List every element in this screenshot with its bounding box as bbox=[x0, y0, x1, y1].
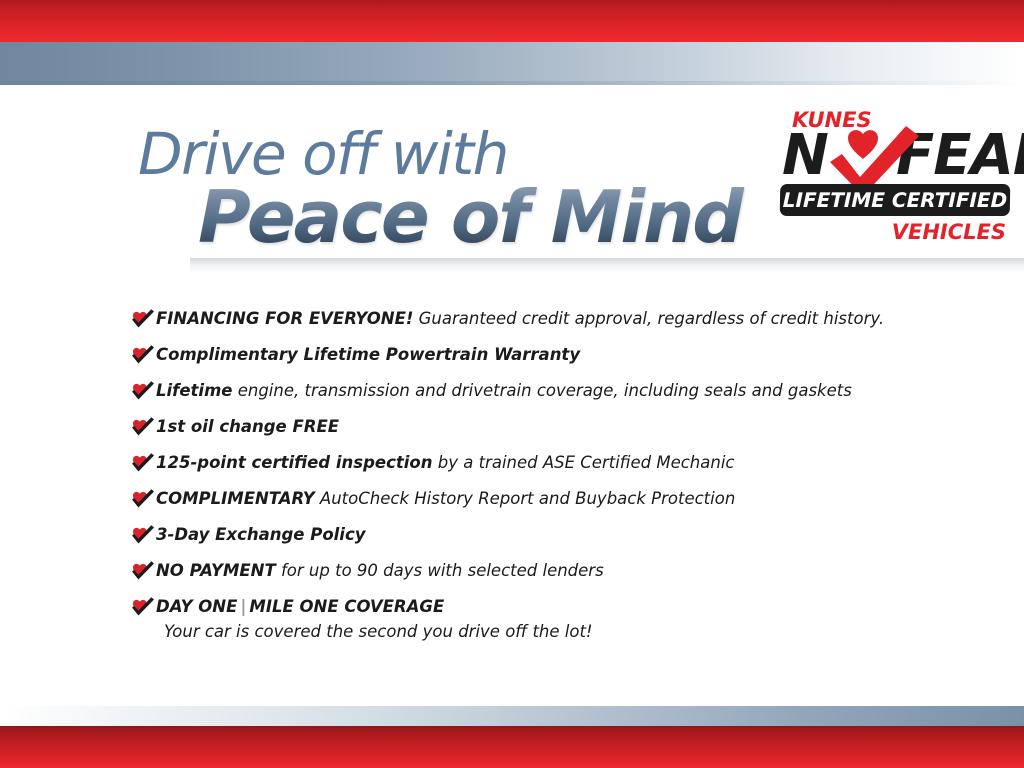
list-item-rest: for up to 90 days with selected lenders bbox=[276, 561, 604, 580]
list-item-text: 3-Day Exchange Policy bbox=[156, 524, 366, 546]
list-item: 125-point certified inspection by a trai… bbox=[130, 452, 950, 475]
list-item-text: Complimentary Lifetime Powertrain Warran… bbox=[156, 344, 580, 366]
list-item: FINANCING FOR EVERYONE! Guaranteed credi… bbox=[130, 308, 950, 331]
list-item-text: COMPLIMENTARY AutoCheck History Report a… bbox=[156, 488, 735, 510]
benefits-list: FINANCING FOR EVERYONE! Guaranteed credi… bbox=[130, 308, 950, 656]
list-item: 1st oil change FREE bbox=[130, 416, 950, 439]
list-item-bold: COMPLIMENTARY bbox=[156, 489, 315, 508]
list-item-bold: DAY ONE bbox=[156, 597, 237, 616]
list-item-separator: | bbox=[237, 597, 249, 616]
heart-check-bullet-icon bbox=[130, 525, 156, 547]
list-item-text: NO PAYMENT for up to 90 days with select… bbox=[156, 560, 604, 582]
list-item-rest: Guaranteed credit approval, regardless o… bbox=[413, 309, 884, 328]
list-item-bold: Complimentary Lifetime Powertrain Warran… bbox=[156, 345, 580, 364]
list-item-bold: 3-Day Exchange Policy bbox=[156, 525, 366, 544]
list-item: Lifetime engine, transmission and drivet… bbox=[130, 380, 950, 403]
heart-check-bullet-icon bbox=[130, 453, 156, 475]
heart-check-bullet-icon bbox=[130, 381, 156, 403]
list-item-bold: 1st oil change FREE bbox=[156, 417, 339, 436]
kunes-no-fear-logo: KUNES N FEAR LIFETIME CERTIFIED VEHICLES bbox=[776, 108, 1012, 248]
headline-line-2: Peace of Mind bbox=[198, 180, 758, 254]
list-item-rest: AutoCheck History Report and Buyback Pro… bbox=[315, 489, 736, 508]
list-item-bold: Lifetime bbox=[156, 381, 232, 400]
heart-check-bullet-icon bbox=[130, 597, 156, 619]
list-item: COMPLIMENTARY AutoCheck History Report a… bbox=[130, 488, 950, 511]
list-item-text: Lifetime engine, transmission and drivet… bbox=[156, 380, 852, 402]
heart-check-bullet-icon bbox=[130, 417, 156, 439]
list-item-text: 1st oil change FREE bbox=[156, 416, 339, 438]
top-red-bar bbox=[0, 0, 1024, 42]
list-item-bold: 125-point certified inspection bbox=[156, 453, 433, 472]
logo-word-vehicles: VEHICLES bbox=[892, 220, 1006, 244]
list-item: 3-Day Exchange Policy bbox=[130, 524, 950, 547]
bottom-red-bar bbox=[0, 726, 1024, 768]
logo-no-fear-wordmark: N FEAR bbox=[780, 126, 1012, 186]
bottom-steel-bar bbox=[0, 706, 1024, 726]
advertisement-banner: Drive off with Peace of Mind KUNES N FEA… bbox=[0, 0, 1024, 768]
logo-banner-text: LIFETIME CERTIFIED bbox=[780, 184, 1011, 216]
heart-check-bullet-icon bbox=[130, 561, 156, 583]
list-item-text: 125-point certified inspection by a trai… bbox=[156, 452, 734, 474]
heart-check-bullet-icon bbox=[130, 489, 156, 511]
heart-check-bullet-icon bbox=[130, 345, 156, 367]
list-item-rest: engine, transmission and drivetrain cove… bbox=[232, 381, 851, 400]
list-item-bold: NO PAYMENT bbox=[156, 561, 276, 580]
heart-check-bullet-icon bbox=[130, 309, 156, 331]
headline-divider bbox=[190, 258, 1024, 274]
list-item: Complimentary Lifetime Powertrain Warran… bbox=[130, 344, 950, 367]
list-item-text: FINANCING FOR EVERYONE! Guaranteed credi… bbox=[156, 308, 884, 330]
headline-block: Drive off with Peace of Mind bbox=[138, 124, 758, 254]
list-item: DAY ONE|MILE ONE COVERAGE bbox=[130, 596, 950, 619]
list-item-bold: FINANCING FOR EVERYONE! bbox=[156, 309, 413, 328]
list-item-text: DAY ONE|MILE ONE COVERAGE bbox=[156, 596, 444, 618]
list-item-rest: by a trained ASE Certified Mechanic bbox=[433, 453, 735, 472]
list-item: NO PAYMENT for up to 90 days with select… bbox=[130, 560, 950, 583]
list-item-subtext: Your car is covered the second you drive… bbox=[164, 621, 950, 643]
logo-certified-banner: LIFETIME CERTIFIED bbox=[780, 184, 1011, 216]
top-steel-bar bbox=[0, 42, 1024, 85]
list-item-bold-2: MILE ONE COVERAGE bbox=[249, 597, 444, 616]
